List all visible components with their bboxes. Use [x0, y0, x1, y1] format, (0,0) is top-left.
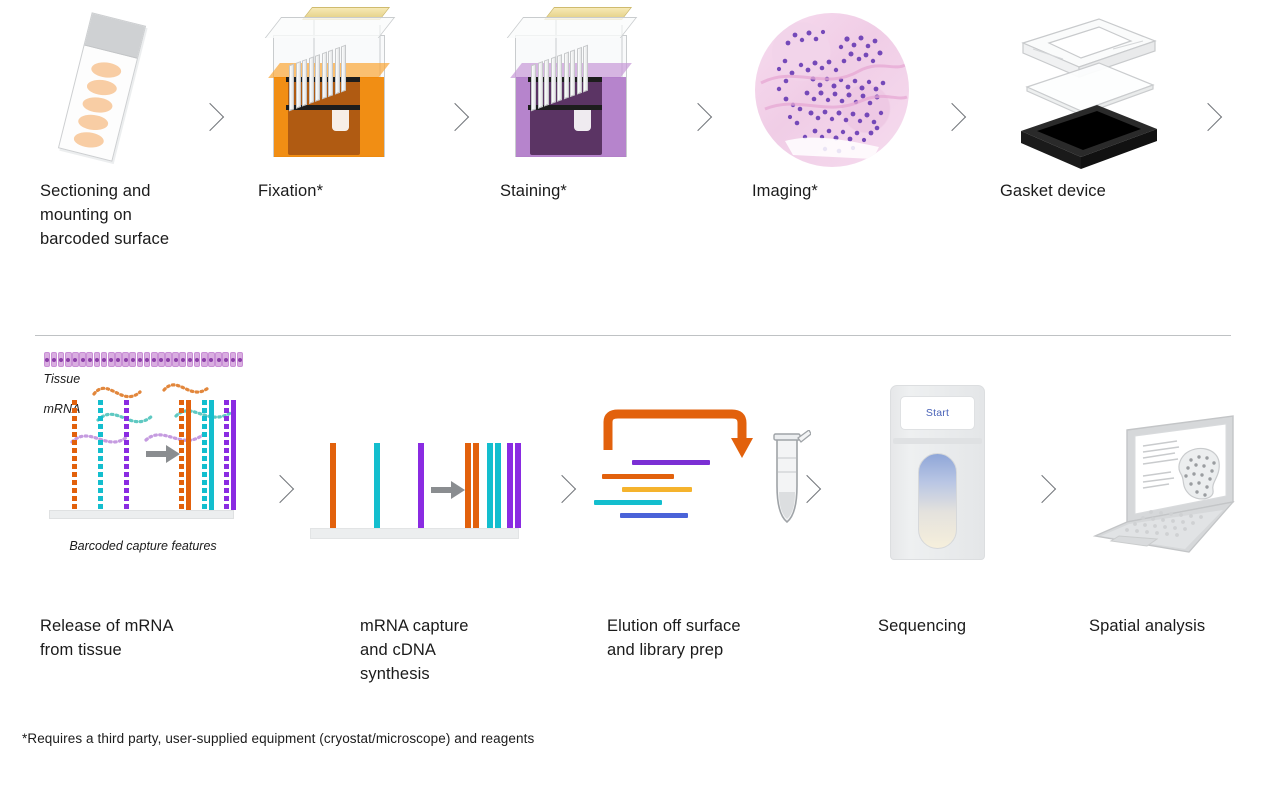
step-label-fixation: Fixation* — [258, 180, 403, 204]
section-divider — [35, 335, 1231, 336]
library-fragment — [622, 487, 692, 492]
chevron-right-icon — [1030, 472, 1056, 514]
step-label-capture: mRNA capture and cDNA synthesis — [360, 615, 469, 687]
step-label-analysis: Spatial analysis — [1089, 615, 1205, 639]
chevron-right-icon — [550, 472, 576, 514]
step-release: Tissue mRNA — [28, 350, 258, 595]
transfer-arrow-icon — [146, 445, 180, 463]
staining-jar-orange-icon — [258, 0, 403, 180]
chevron-right-icon — [268, 472, 294, 514]
glass-slide-icon — [40, 0, 190, 180]
sequencer-start-label: Start — [926, 407, 949, 419]
step-label-staining: Staining* — [500, 180, 645, 204]
step-label-imaging: Imaging* — [752, 180, 912, 204]
step-label-gasket: Gasket device — [1000, 180, 1175, 204]
chevron-right-icon — [795, 472, 821, 514]
library-fragment — [594, 500, 662, 505]
step-imaging: Imaging* — [752, 0, 912, 204]
chevron-right-icon — [1196, 100, 1222, 142]
step-label-release: Release of mRNA from tissue — [40, 615, 174, 663]
synthesis-arrow-icon — [431, 481, 465, 499]
figure-footnote: *Requires a third party, user-supplied e… — [22, 731, 534, 746]
library-fragment — [620, 513, 688, 518]
step-analysis: Spatial analysis — [1075, 350, 1255, 595]
staining-jar-purple-icon — [500, 0, 645, 180]
histology-micrograph-icon — [752, 0, 912, 180]
sequencer-icon: Start — [890, 385, 985, 560]
chevron-right-icon — [443, 100, 469, 142]
workflow-row-bottom: Tissue mRNA — [0, 350, 1280, 710]
sequencer-flowcell-window — [918, 453, 957, 549]
sequencer-screen[interactable]: Start — [900, 396, 975, 430]
chevron-right-icon — [940, 100, 966, 142]
step-fixation: Fixation* — [258, 0, 403, 204]
library-fragment — [602, 474, 674, 479]
step-sectioning: Sectioning and mounting on barcoded surf… — [40, 0, 190, 252]
step-elution: Elution off surface and library prep — [585, 350, 810, 595]
library-fragment — [632, 460, 710, 465]
gasket-device-icon — [1000, 0, 1175, 180]
mrna-strands-icon — [36, 368, 251, 458]
mrna-release-icon: Tissue mRNA — [36, 350, 251, 555]
step-sequencing: Start Sequencing — [850, 350, 1025, 595]
chevron-right-icon — [686, 100, 712, 142]
step-gasket: Gasket device — [1000, 0, 1175, 204]
elution-tube-icon — [590, 408, 805, 538]
step-label-sequencing: Sequencing — [878, 615, 966, 639]
chevron-right-icon — [198, 100, 224, 142]
step-staining: Staining* — [500, 0, 645, 204]
laptop-icon — [1085, 410, 1245, 560]
step-label-elution: Elution off surface and library prep — [607, 615, 741, 663]
workflow-figure: Sectioning and mounting on barcoded surf… — [0, 0, 1280, 791]
tissue-strip — [44, 352, 244, 367]
step-capture: mRNA capture and cDNA synthesis — [305, 350, 530, 595]
workflow-row-top: Sectioning and mounting on barcoded surf… — [0, 0, 1280, 310]
barcoded-features-caption: Barcoded capture features — [36, 539, 251, 555]
step-label-sectioning: Sectioning and mounting on barcoded surf… — [40, 180, 190, 252]
cdna-synthesis-icon — [310, 419, 525, 539]
